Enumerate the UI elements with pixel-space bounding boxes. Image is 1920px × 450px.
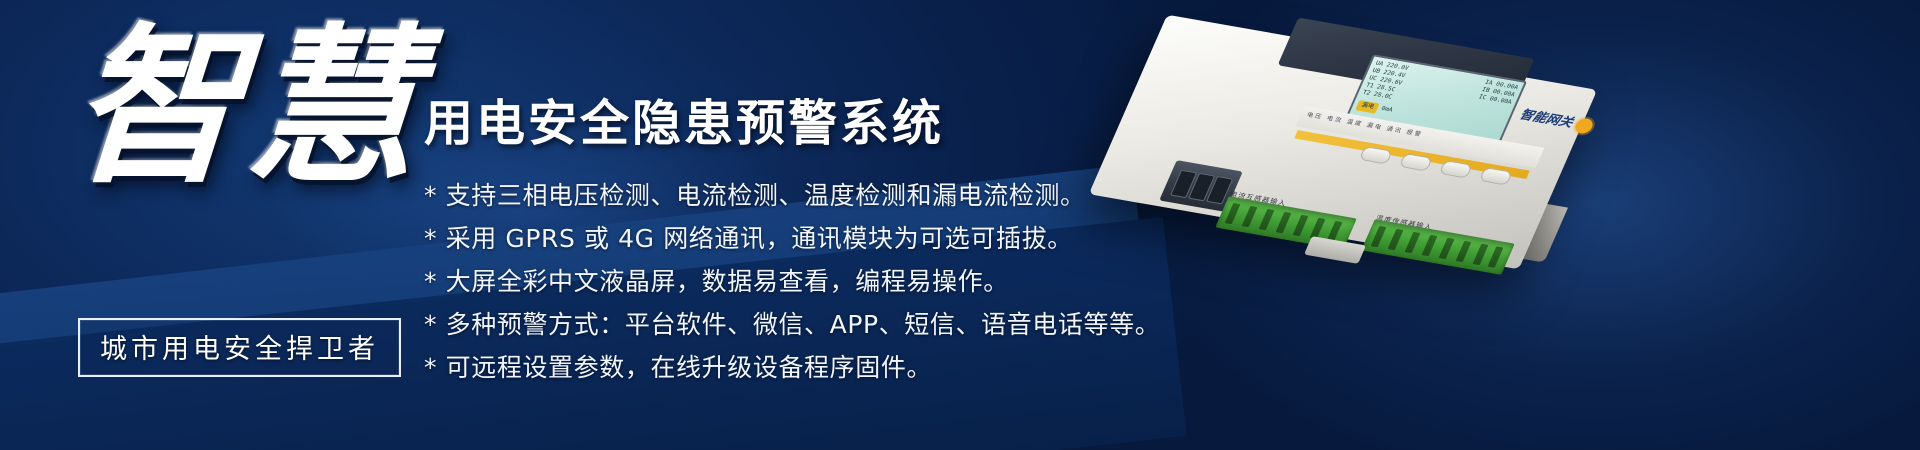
list-item: * 采用 GPRS 或 4G 网络通讯，通讯模块为可选可插拔。 [424, 219, 1160, 255]
device-button-back[interactable] [1359, 146, 1393, 165]
lcd-leakage-badge: 漏电 [1355, 100, 1379, 113]
list-item: * 多种预警方式：平台软件、微信、APP、短信、语音电话等等。 [424, 305, 1160, 341]
product-banner: 智慧 城市用电安全捍卫者 用电安全隐患预警系统 * 支持三相电压检测、电流检测、… [0, 0, 1920, 450]
calligraphy-title: 智慧 [59, 22, 428, 292]
device-button-ok[interactable] [1479, 167, 1513, 186]
device-button-down[interactable] [1439, 160, 1473, 179]
feature-list: * 支持三相电压检测、电流检测、温度检测和漏电流检测。 * 采用 GPRS 或 … [424, 176, 1160, 384]
list-item: * 大屏全彩中文液晶屏，数据易查看，编程易操作。 [424, 262, 1160, 298]
list-item: * 可远程设置参数，在线升级设备程序固件。 [424, 348, 1160, 384]
list-item: * 支持三相电压检测、电流检测、温度检测和漏电流检测。 [424, 176, 1160, 212]
product-device-image: UA 220.0VIA 00.00A UB 220.4VIB 00.00A UC… [1110, 18, 1630, 348]
tagline-box: 城市用电安全捍卫者 [78, 318, 401, 377]
lcd-leakage-value: 0mA [1380, 106, 1394, 114]
page-title: 用电安全隐患预警系统 [424, 84, 944, 155]
tagline-text: 城市用电安全捍卫者 [100, 334, 379, 365]
device-button-up[interactable] [1399, 153, 1433, 172]
